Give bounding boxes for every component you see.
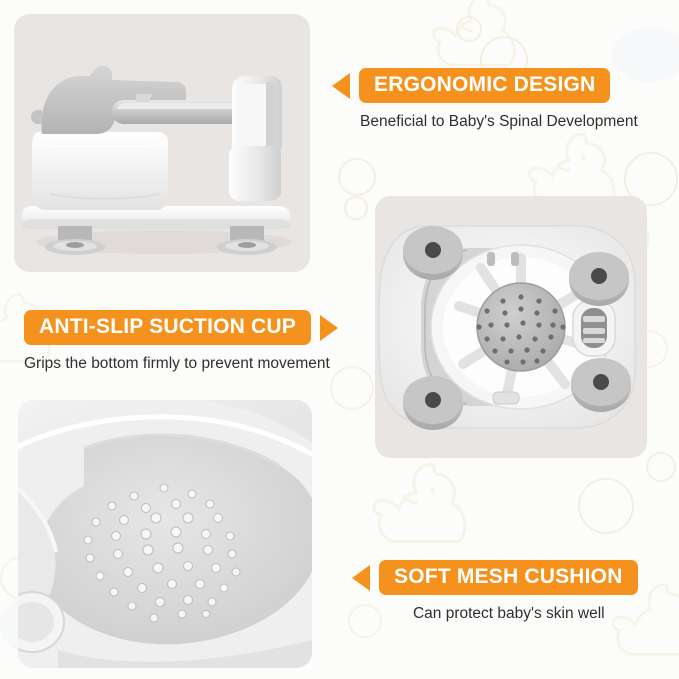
duck-outline-icon (432, 0, 524, 76)
callout-header-row: ERGONOMIC DESIGN (332, 68, 638, 103)
callout-soft-mesh-cushion: SOFT MESH CUSHION Can protect baby's ski… (352, 560, 638, 623)
bath-seat-bottom-illustration (375, 196, 647, 458)
callout-header-row: ANTI-SLIP SUCTION CUP (24, 310, 338, 345)
badge-anti-slip-suction-cup[interactable]: ANTI-SLIP SUCTION CUP (24, 310, 311, 345)
infographic-canvas: ERGONOMIC DESIGN Beneficial to Baby's Sp… (0, 0, 679, 679)
bubble-shape (646, 452, 676, 482)
bubble-shape (578, 478, 634, 534)
bubble-shape (456, 16, 482, 42)
bottom-view-photo (375, 196, 647, 458)
subtitle-anti-slip-suction-cup: Grips the bottom firmly to prevent movem… (24, 355, 338, 373)
duck-outline-icon (372, 462, 476, 554)
suction-cup (403, 226, 463, 280)
subtitle-soft-mesh-cushion: Can protect baby's skin well (380, 605, 638, 623)
callout-anti-slip-suction-cup: ANTI-SLIP SUCTION CUP Grips the bottom f… (24, 310, 338, 373)
arrow-right-icon (320, 315, 338, 341)
bath-seat-side-illustration (14, 14, 310, 272)
arrow-left-icon (352, 565, 370, 591)
callout-header-row: SOFT MESH CUSHION (352, 560, 638, 595)
callout-ergonomic-design: ERGONOMIC DESIGN Beneficial to Baby's Sp… (332, 68, 638, 131)
bubble-shape (344, 196, 368, 220)
bubble-shape (338, 158, 376, 196)
mesh-cushion-illustration (18, 400, 312, 668)
subtitle-ergonomic-design: Beneficial to Baby's Spinal Development (360, 113, 638, 131)
mesh-cushion-photo (18, 400, 312, 668)
suction-cup (569, 252, 629, 306)
suction-cup (571, 358, 631, 412)
side-profile-photo (14, 14, 310, 272)
badge-ergonomic-design[interactable]: ERGONOMIC DESIGN (359, 68, 610, 103)
arrow-left-icon (332, 73, 350, 99)
badge-soft-mesh-cushion[interactable]: SOFT MESH CUSHION (379, 560, 638, 595)
suction-cup (403, 376, 463, 430)
